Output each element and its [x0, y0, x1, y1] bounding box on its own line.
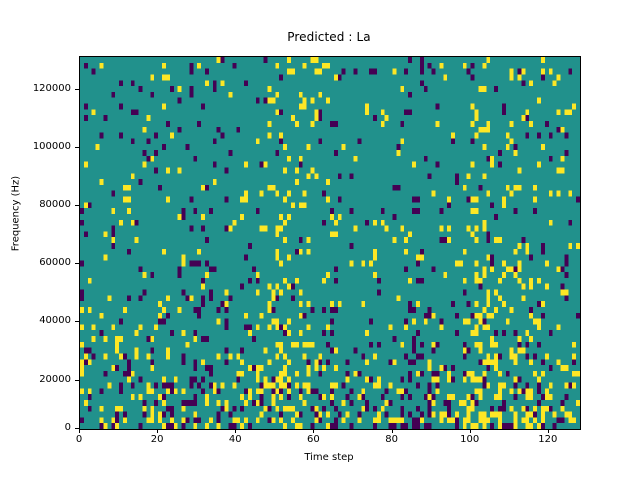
x-tick-mark [157, 429, 158, 433]
x-tick-label: 20 [137, 434, 177, 445]
y-tick-mark [75, 321, 79, 322]
y-tick-mark [75, 205, 79, 206]
x-tick-label: 80 [372, 434, 412, 445]
x-tick-mark [548, 429, 549, 433]
x-axis-label: Time step [79, 452, 579, 463]
y-tick-mark [75, 263, 79, 264]
x-tick-mark [79, 429, 80, 433]
y-tick-mark [75, 147, 79, 148]
x-tick-mark [235, 429, 236, 433]
y-tick-mark [75, 89, 79, 90]
y-tick-label: 0 [3, 422, 71, 433]
x-tick-mark [313, 429, 314, 433]
y-tick-mark [75, 380, 79, 381]
x-tick-label: 0 [59, 434, 99, 445]
matplotlib-figure: Predicted : La 1200001000008000060000400… [0, 0, 640, 480]
x-tick-mark [470, 429, 471, 433]
heatmap-axes [79, 56, 581, 430]
x-tick-label: 100 [450, 434, 490, 445]
y-tick-label: 20000 [3, 374, 71, 385]
heatmap-image [80, 57, 580, 429]
y-tick-label: 120000 [3, 83, 71, 94]
y-tick-label: 40000 [3, 315, 71, 326]
x-tick-label: 120 [528, 434, 568, 445]
x-tick-label: 60 [293, 434, 333, 445]
x-tick-mark [392, 429, 393, 433]
y-axis-label: Frequency (Hz) [11, 154, 22, 274]
y-tick-mark [75, 428, 79, 429]
y-tick-label: 100000 [3, 141, 71, 152]
x-tick-label: 40 [215, 434, 255, 445]
page-title: Predicted : La [79, 30, 579, 44]
